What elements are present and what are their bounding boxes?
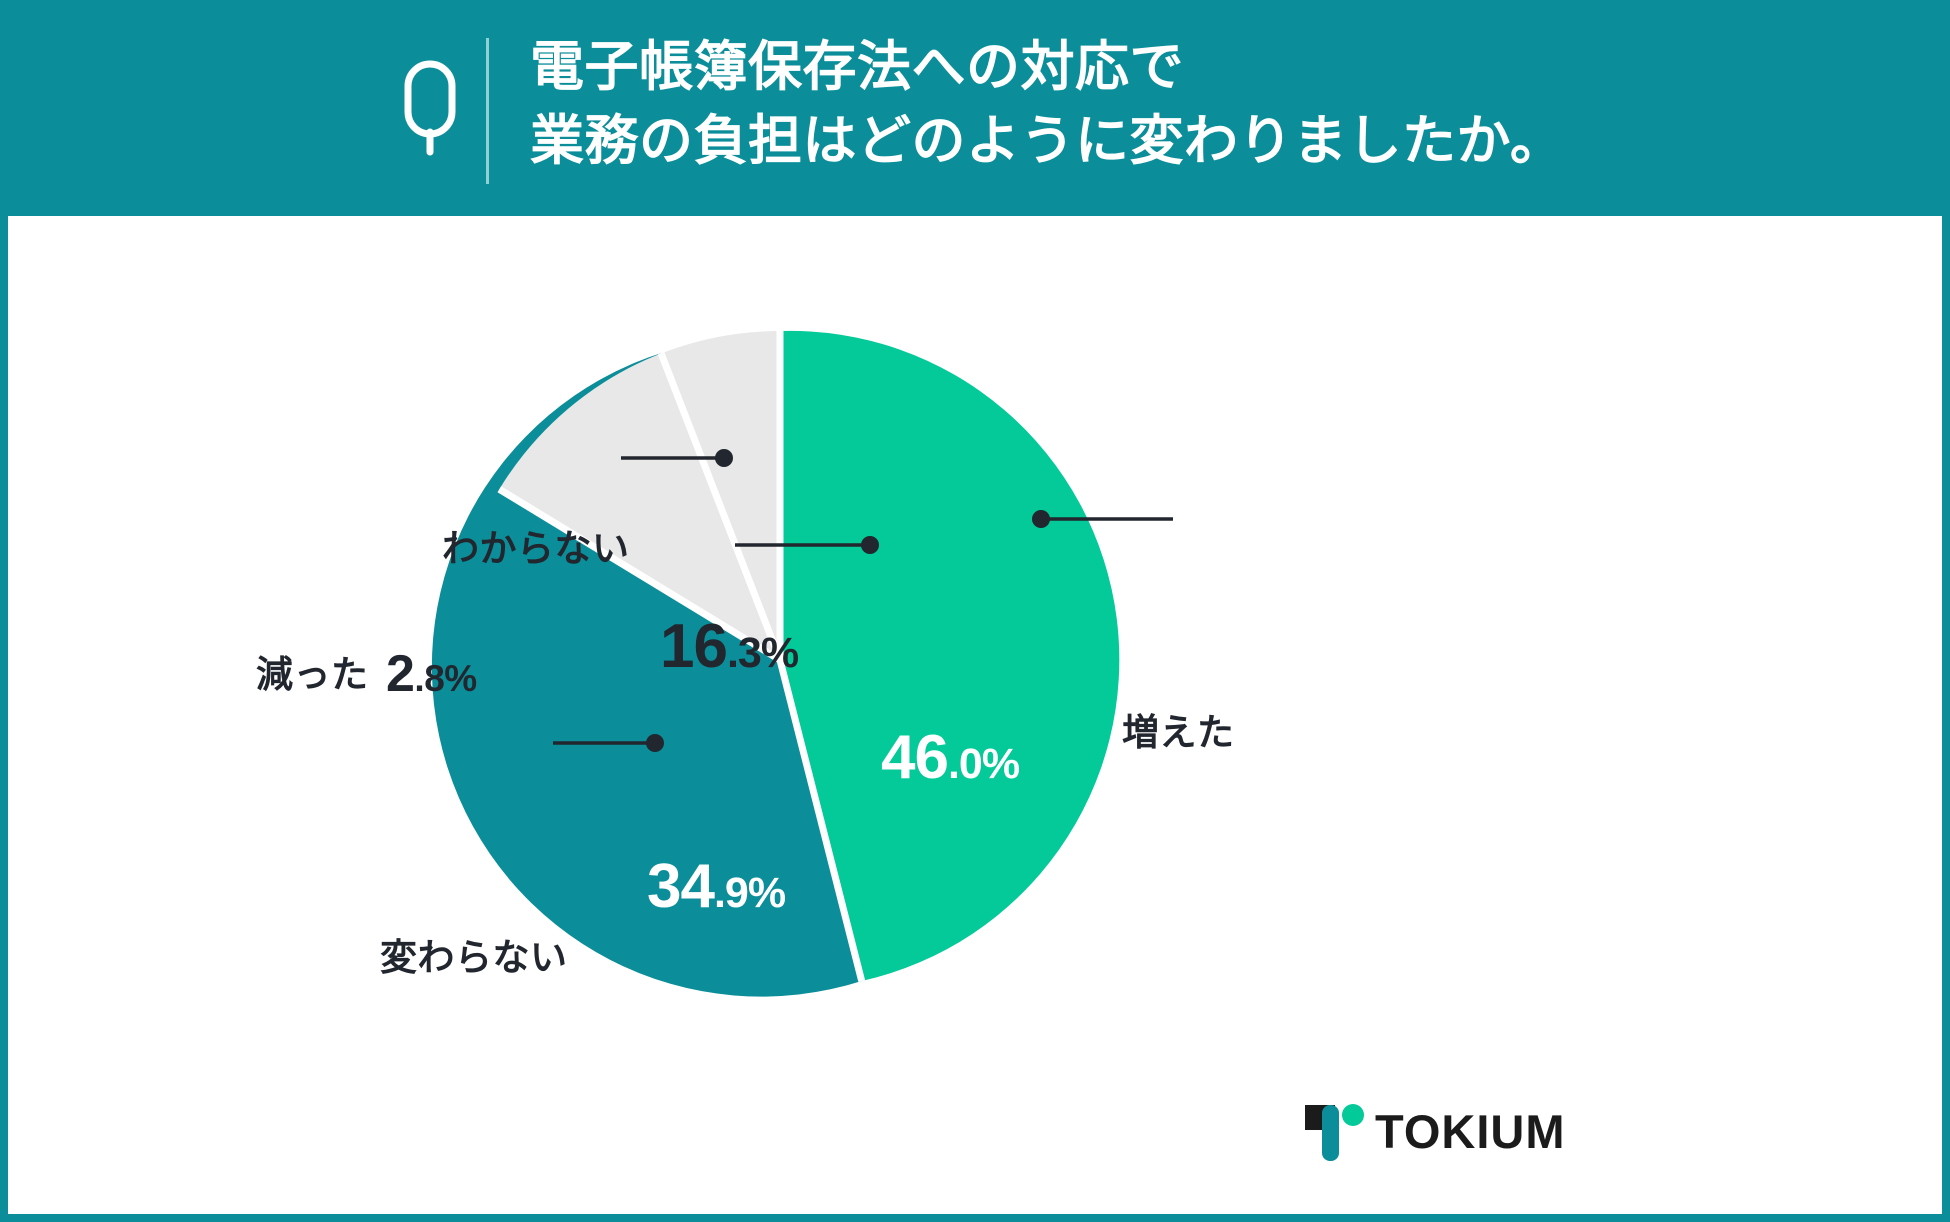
- page-title-line-1: 電子帳簿保存法への対応で: [530, 30, 1910, 104]
- pie-chart: わからない 減った 変わらない 増えた 2.8% 16.3% 46.0% 34.…: [8, 216, 1942, 1214]
- pie-value-kawaranai-frac: .9%: [714, 869, 785, 917]
- pie-value-hetta-frac: .8%: [414, 658, 476, 699]
- header-band: 電子帳簿保存法への対応で 業務の負担はどのように変わりましたか。: [0, 0, 1950, 216]
- slide-root: 電子帳簿保存法への対応で 業務の負担はどのように変わりましたか。: [0, 0, 1950, 1222]
- page-title-line-2: 業務の負担はどのように変わりましたか。: [530, 104, 1910, 178]
- pie-value-fueta-frac: .0%: [948, 740, 1019, 788]
- pie-value-wakaranai-frac: .3%: [727, 629, 798, 677]
- pie-label-wakaranai: わからない: [442, 527, 630, 571]
- pie-value-fueta: 46.0%: [881, 722, 1019, 793]
- tokium-wordmark: TOKIUM: [1375, 1105, 1566, 1159]
- header-divider: [486, 38, 489, 184]
- pie-label-kawaranai: 変わらない: [380, 936, 568, 980]
- pie-chart-svg: [8, 216, 1942, 1214]
- tokium-logo-icon: [1305, 1101, 1369, 1163]
- pie-value-kawaranai-int: 34: [647, 852, 714, 921]
- pie-value-wakaranai-int: 16: [660, 612, 727, 681]
- tokium-logo: TOKIUM: [1305, 1101, 1535, 1163]
- question-mark-icon: [404, 60, 456, 156]
- content-panel: わからない 減った 変わらない 増えた 2.8% 16.3% 46.0% 34.…: [8, 216, 1942, 1214]
- pie-label-hetta: 減った: [256, 653, 369, 697]
- pie-value-hetta: 2.8%: [386, 644, 477, 704]
- page-title: 電子帳簿保存法への対応で 業務の負担はどのように変わりましたか。: [530, 30, 1910, 178]
- pie-value-kawaranai: 34.9%: [647, 851, 785, 922]
- pie-value-wakaranai: 16.3%: [660, 611, 798, 682]
- pie-value-fueta-int: 46: [881, 723, 948, 792]
- pie-value-hetta-int: 2: [386, 645, 414, 703]
- pie-label-fueta: 増えた: [1122, 711, 1235, 755]
